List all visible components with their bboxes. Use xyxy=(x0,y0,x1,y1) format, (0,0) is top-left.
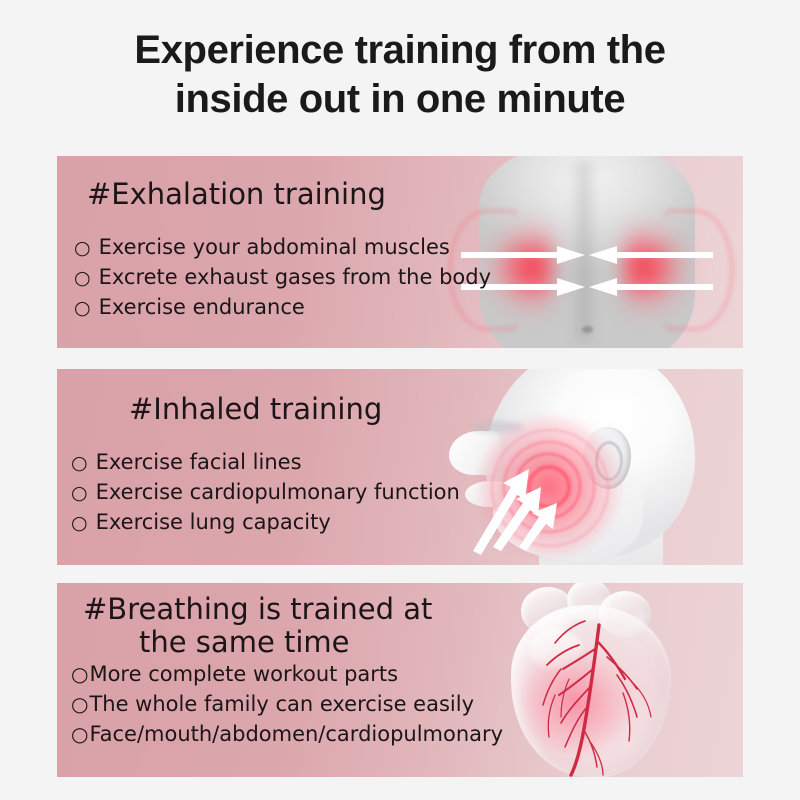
panel-title-line-2: the same time xyxy=(83,626,432,659)
list-item: ○ Exercise your abdominal muscles xyxy=(74,232,491,262)
list-item: ○ Exercise cardiopulmonary function xyxy=(71,477,460,507)
circle-bullet-icon: ○ xyxy=(71,484,88,503)
list-item-label: The whole family can exercise easily xyxy=(89,689,474,719)
list-item: ○ Face/mouth/abdomen/cardiopulmonary xyxy=(71,719,503,749)
list-item: ○ More complete workout parts xyxy=(71,659,503,689)
list-item-label: Face/mouth/abdomen/cardiopulmonary xyxy=(89,719,503,749)
feature-panel-inhaled: #Inhaled training ○ Exercise facial line… xyxy=(57,369,743,565)
list-item-label: More complete workout parts xyxy=(89,659,398,689)
list-item: ○ Exercise endurance xyxy=(74,292,491,322)
feature-panel-exhalation: #Exhalation training ○ Exercise your abd… xyxy=(57,156,743,348)
page-title-line-2: inside out in one minute xyxy=(0,75,800,124)
list-item: ○ Exercise facial lines xyxy=(71,447,460,477)
circle-bullet-icon: ○ xyxy=(71,664,88,684)
page-title: Experience training from the inside out … xyxy=(0,26,800,124)
benefit-list-inhaled: ○ Exercise facial lines ○ Exercise cardi… xyxy=(71,447,460,537)
circle-bullet-icon: ○ xyxy=(74,299,91,318)
circle-bullet-icon: ○ xyxy=(71,694,88,714)
list-item-label: Exercise facial lines xyxy=(96,447,302,477)
circle-bullet-icon: ○ xyxy=(71,454,88,473)
panel-title-inhaled: #Inhaled training xyxy=(129,393,382,426)
page-title-line-1: Experience training from the xyxy=(0,26,800,75)
benefit-list-exhalation: ○ Exercise your abdominal muscles ○ Excr… xyxy=(74,232,491,322)
circle-bullet-icon: ○ xyxy=(71,514,88,533)
list-item-label: Exercise lung capacity xyxy=(96,507,331,537)
list-item-label: Exercise cardiopulmonary function xyxy=(96,477,460,507)
feature-panel-breathing: #Breathing is trained at the same time ○… xyxy=(57,583,743,777)
panel-title-line-1: #Breathing is trained at xyxy=(83,592,432,626)
circle-bullet-icon: ○ xyxy=(71,724,88,744)
list-item: ○ The whole family can exercise easily xyxy=(71,689,503,719)
list-item: ○ Exercise lung capacity xyxy=(71,507,460,537)
panel-title-breathing: #Breathing is trained at the same time xyxy=(83,593,432,660)
panel-title-exhalation: #Exhalation training xyxy=(87,178,386,211)
circle-bullet-icon: ○ xyxy=(74,269,91,288)
list-item: ○ Excrete exhaust gases from the body xyxy=(74,262,491,292)
list-item-label: Exercise endurance xyxy=(99,292,305,322)
circle-bullet-icon: ○ xyxy=(74,239,91,258)
benefit-list-breathing: ○ More complete workout parts ○ The whol… xyxy=(71,659,503,749)
list-item-label: Exercise your abdominal muscles xyxy=(99,232,450,262)
list-item-label: Excrete exhaust gases from the body xyxy=(99,262,491,292)
